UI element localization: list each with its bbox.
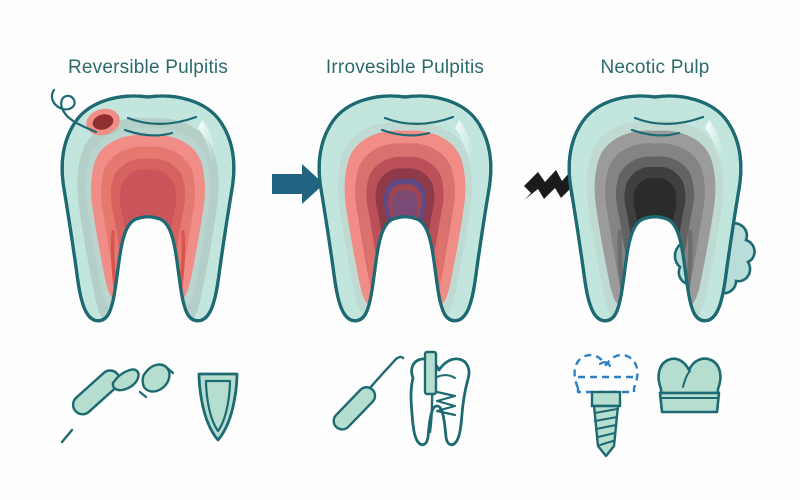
stage-title-necrotic-pulp: Necotic Pulp [535, 57, 775, 79]
explorer-handle [330, 384, 378, 433]
crown-base [660, 393, 719, 412]
mirror-head [143, 365, 170, 392]
root-canal-file [425, 352, 436, 394]
treatment-icons-necrotic-pulp[interactable] [575, 355, 721, 456]
stage-title-irreversible-pulpitis: Irrovesible Pulpitis [285, 57, 525, 79]
implant-abutment [592, 392, 620, 406]
dental-implant-icon[interactable] [575, 355, 638, 456]
dental-mirror-icon[interactable] [140, 365, 173, 397]
icon-tooth-fissure [437, 375, 455, 378]
pulp-deep-layer [634, 178, 677, 251]
crown-top [659, 359, 721, 393]
infographic-canvas: Reversible Pulpitis Irrovesible Pulpitis… [0, 0, 800, 500]
treatment-icons-reversible-pulpitis[interactable] [62, 365, 237, 442]
stage-title-reversible-pulpitis: Reversible Pulpitis [28, 57, 268, 79]
tooth-irreversible-pulpitis[interactable] [319, 96, 491, 321]
shield-icon[interactable] [199, 374, 237, 440]
canal-zigzag-marks [437, 392, 455, 415]
explorer-tip [370, 357, 403, 388]
tooth-reversible-pulpitis[interactable] [52, 90, 234, 322]
implant-crown-dashed [575, 355, 638, 392]
tooth-necrotic-pulp[interactable] [569, 96, 754, 321]
arrow-solid-block [272, 164, 324, 204]
arrow-1-shape [272, 164, 324, 204]
mirror-spark [140, 392, 146, 397]
handpiece-tip [62, 430, 72, 442]
dental-crown-icon[interactable] [659, 359, 721, 412]
root-canal-tooth-icon[interactable] [411, 352, 469, 445]
treatment-icons-irreversible-pulpitis[interactable] [330, 352, 469, 445]
dental-handpiece-icon[interactable] [62, 367, 139, 442]
pulp-deep-layer-3 [392, 190, 418, 235]
dental-explorer-icon[interactable] [330, 357, 403, 433]
handpiece-body [69, 367, 123, 419]
